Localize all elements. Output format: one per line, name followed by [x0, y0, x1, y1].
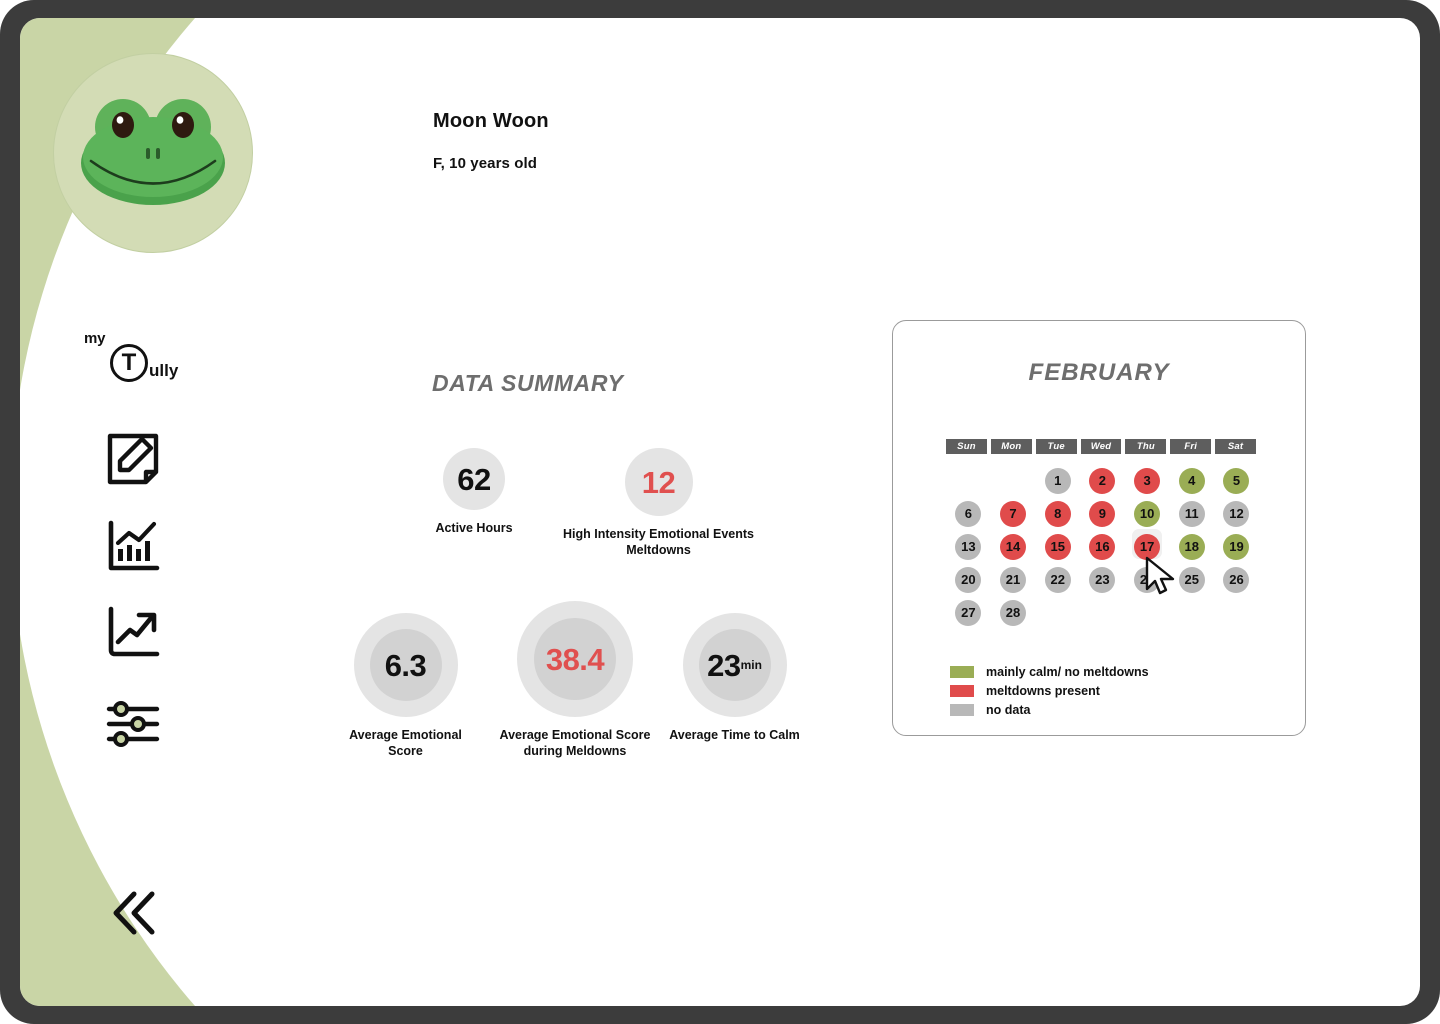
- calendar-day-cell[interactable]: 12: [1214, 497, 1259, 530]
- calendar-day-cell[interactable]: 9: [1080, 497, 1125, 530]
- calendar-week-row: 2728: [946, 596, 1259, 629]
- metric-caption: Average Emotional Score: [333, 728, 478, 759]
- calendar-day-10[interactable]: 10: [1134, 501, 1160, 527]
- legend-label-melt: meltdowns present: [986, 684, 1100, 698]
- calendar-day-cell[interactable]: 26: [1214, 563, 1259, 596]
- calendar-day-cell[interactable]: 25: [1169, 563, 1214, 596]
- metric-unit: min: [741, 658, 762, 672]
- calendar-empty-cell: [1169, 596, 1214, 629]
- avatar[interactable]: [53, 53, 253, 253]
- calendar-day-4[interactable]: 4: [1179, 468, 1205, 494]
- metric-disc: 12: [625, 448, 693, 516]
- calendar-day-cell[interactable]: 15: [1035, 530, 1080, 563]
- calendar-day-21[interactable]: 21: [1000, 567, 1026, 593]
- calendar-day-cell[interactable]: 28: [991, 596, 1036, 629]
- logo-suffix: ully: [149, 361, 178, 381]
- calendar-month-title: FEBRUARY: [893, 359, 1305, 387]
- calendar-day-27[interactable]: 27: [955, 600, 981, 626]
- metric-value: 6.3: [385, 650, 427, 681]
- calendar-day-cell[interactable]: 3: [1125, 464, 1170, 497]
- calendar-weekday-sat: Sat: [1215, 439, 1256, 454]
- calendar-week-row: 13141516171819: [946, 530, 1259, 563]
- legend-row-calm: mainly calm/ no meltdowns: [950, 662, 1149, 681]
- legend-row-nodata: no data: [950, 700, 1149, 719]
- sidebar-item-trends[interactable]: [102, 601, 164, 663]
- calendar-empty-cell: [1035, 596, 1080, 629]
- calendar-day-2[interactable]: 2: [1089, 468, 1115, 494]
- calendar-day-22[interactable]: 22: [1045, 567, 1071, 593]
- calendar-day-28[interactable]: 28: [1000, 600, 1026, 626]
- calendar-day-grid: 1234567891011121314151617181920212223242…: [946, 464, 1259, 629]
- calendar-day-25[interactable]: 25: [1179, 567, 1205, 593]
- bar-chart-icon: [102, 515, 164, 577]
- calendar-weekday-header: SunMonTueWedThuFriSat: [946, 439, 1256, 454]
- calendar-legend: mainly calm/ no meltdownsmeltdowns prese…: [950, 662, 1149, 719]
- collapse-sidebar-button[interactable]: [100, 878, 170, 948]
- calendar-weekday-sun: Sun: [946, 439, 987, 454]
- legend-label-calm: mainly calm/ no meltdowns: [986, 665, 1149, 679]
- calendar-empty-cell: [1125, 596, 1170, 629]
- metric-disc-inner: 38.4: [534, 618, 616, 700]
- calendar-empty-cell: [991, 464, 1036, 497]
- metric-caption: Average Emotional Score during Meldowns: [480, 728, 670, 759]
- metric-disc-outer: 6.3: [354, 613, 458, 717]
- metric-value: 38.4: [546, 644, 604, 675]
- metric-caption: Average Time to Calm: [653, 728, 816, 744]
- metric-high-intensity-events[interactable]: 12 High Intensity Emotional Events Meltd…: [556, 448, 761, 558]
- calendar-week-row: 12345: [946, 464, 1259, 497]
- metric-disc: 62: [443, 448, 505, 510]
- calendar-day-cell[interactable]: 19: [1214, 530, 1259, 563]
- calendar-day-8[interactable]: 8: [1045, 501, 1071, 527]
- sidebar: my T ully: [20, 18, 280, 1006]
- app-logo[interactable]: my T ully: [68, 318, 238, 390]
- app-screen: my T ully: [20, 18, 1420, 1006]
- calendar-day-20[interactable]: 20: [955, 567, 981, 593]
- sliders-settings-icon: [102, 693, 164, 755]
- calendar-day-12[interactable]: 12: [1223, 501, 1249, 527]
- calendar-weekday-fri: Fri: [1170, 439, 1211, 454]
- calendar-day-5[interactable]: 5: [1223, 468, 1249, 494]
- calendar-day-cell[interactable]: 11: [1169, 497, 1214, 530]
- calendar-day-9[interactable]: 9: [1089, 501, 1115, 527]
- calendar-day-19[interactable]: 19: [1223, 534, 1249, 560]
- frog-avatar-icon: [75, 93, 231, 213]
- metric-disc-inner: 6.3: [370, 629, 442, 701]
- sidebar-item-notes[interactable]: [102, 428, 164, 490]
- data-summary-title: DATA SUMMARY: [432, 370, 624, 397]
- metric-disc-outer: 38.4: [517, 601, 633, 717]
- calendar-day-cell[interactable]: 17: [1125, 530, 1170, 563]
- note-edit-icon: [102, 428, 164, 490]
- metric-value: 12: [642, 467, 675, 498]
- metric-active-hours[interactable]: 62 Active Hours: [410, 448, 538, 537]
- legend-row-melt: meltdowns present: [950, 681, 1149, 700]
- calendar-day-cell[interactable]: 7: [991, 497, 1036, 530]
- calendar-weekday-thu: Thu: [1125, 439, 1166, 454]
- calendar-day-11[interactable]: 11: [1179, 501, 1205, 527]
- calendar-day-17[interactable]: 17: [1134, 534, 1160, 560]
- calendar-day-7[interactable]: 7: [1000, 501, 1026, 527]
- calendar-day-cell[interactable]: 21: [991, 563, 1036, 596]
- calendar-day-cell[interactable]: 8: [1035, 497, 1080, 530]
- calendar-day-cell[interactable]: 13: [946, 530, 991, 563]
- patient-meta: F, 10 years old: [433, 155, 853, 172]
- calendar-weekday-mon: Mon: [991, 439, 1032, 454]
- sidebar-item-reports[interactable]: [102, 515, 164, 577]
- metric-average-emotional-score[interactable]: 6.3 Average Emotional Score: [333, 613, 478, 759]
- metric-value: 23: [707, 650, 740, 681]
- logo-prefix: my: [84, 330, 105, 347]
- legend-label-nodata: no data: [986, 703, 1030, 717]
- calendar-day-cell[interactable]: 22: [1035, 563, 1080, 596]
- calendar-day-cell[interactable]: 4: [1169, 464, 1214, 497]
- calendar-day-6[interactable]: 6: [955, 501, 981, 527]
- calendar-day-cell[interactable]: 2: [1080, 464, 1125, 497]
- calendar-week-row: 6789101112: [946, 497, 1259, 530]
- metric-average-time-to-calm[interactable]: 23min Average Time to Calm: [653, 613, 816, 744]
- calendar-day-cell[interactable]: 10: [1125, 497, 1170, 530]
- calendar-empty-cell: [946, 464, 991, 497]
- calendar-day-cell[interactable]: 20: [946, 563, 991, 596]
- calendar-panel: FEBRUARY SunMonTueWedThuFriSat 123456789…: [892, 320, 1306, 736]
- logo-mark: T: [110, 344, 148, 382]
- metric-value: 62: [457, 464, 490, 495]
- page-title: Moon Woon: [433, 110, 853, 133]
- calendar-day-3[interactable]: 3: [1134, 468, 1160, 494]
- calendar-day-cell[interactable]: 5: [1214, 464, 1259, 497]
- calendar-day-cell[interactable]: 27: [946, 596, 991, 629]
- calendar-week-row: 20212223242526: [946, 563, 1259, 596]
- patient-header: Moon Woon F, 10 years old: [433, 110, 853, 172]
- device-frame: my T ully: [0, 0, 1440, 1024]
- calendar-day-24[interactable]: 24: [1134, 567, 1160, 593]
- calendar-day-16[interactable]: 16: [1089, 534, 1115, 560]
- sidebar-item-settings[interactable]: [102, 693, 164, 755]
- metric-average-emotional-score-meltdowns[interactable]: 38.4 Average Emotional Score during Meld…: [480, 601, 670, 759]
- calendar-empty-cell: [1214, 596, 1259, 629]
- calendar-day-18[interactable]: 18: [1179, 534, 1205, 560]
- calendar-day-1[interactable]: 1: [1045, 468, 1071, 494]
- legend-swatch-calm: [950, 666, 974, 678]
- chevron-double-left-icon: [100, 878, 170, 948]
- calendar-day-cell[interactable]: 18: [1169, 530, 1214, 563]
- metric-caption: High Intensity Emotional Events Meltdown…: [556, 527, 761, 558]
- calendar-day-cell[interactable]: 1: [1035, 464, 1080, 497]
- calendar-day-cell[interactable]: 6: [946, 497, 991, 530]
- metric-disc-inner: 23min: [699, 629, 771, 701]
- metric-caption: Active Hours: [410, 521, 538, 537]
- calendar-day-13[interactable]: 13: [955, 534, 981, 560]
- legend-swatch-melt: [950, 685, 974, 697]
- calendar-day-14[interactable]: 14: [1000, 534, 1026, 560]
- calendar-day-cell[interactable]: 23: [1080, 563, 1125, 596]
- calendar-day-cell[interactable]: 16: [1080, 530, 1125, 563]
- calendar-day-15[interactable]: 15: [1045, 534, 1071, 560]
- calendar-weekday-tue: Tue: [1036, 439, 1077, 454]
- calendar-day-26[interactable]: 26: [1223, 567, 1249, 593]
- calendar-day-cell[interactable]: 24: [1125, 563, 1170, 596]
- calendar-empty-cell: [1080, 596, 1125, 629]
- metric-disc-outer: 23min: [683, 613, 787, 717]
- calendar-day-cell[interactable]: 14: [991, 530, 1036, 563]
- legend-swatch-nodata: [950, 704, 974, 716]
- calendar-weekday-wed: Wed: [1081, 439, 1122, 454]
- calendar-day-23[interactable]: 23: [1089, 567, 1115, 593]
- trend-line-icon: [102, 601, 164, 663]
